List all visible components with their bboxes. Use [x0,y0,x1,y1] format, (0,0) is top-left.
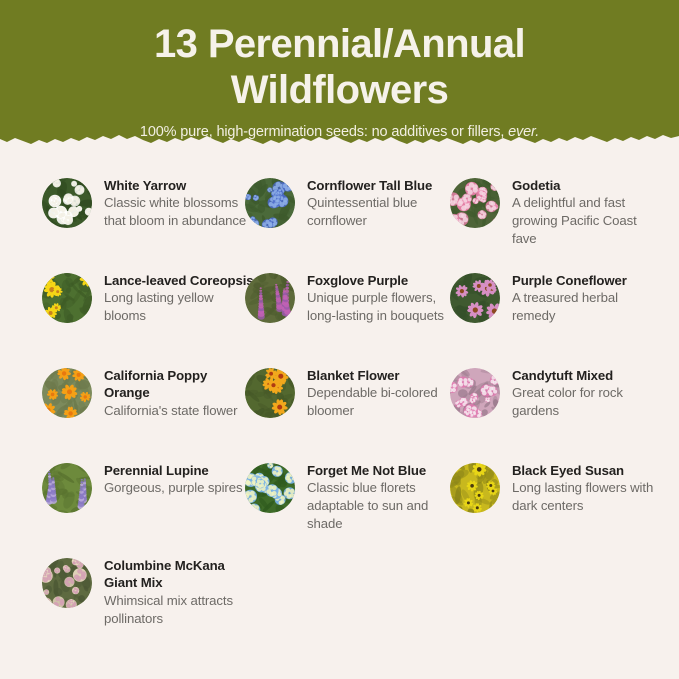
godetia-thumbnail [450,178,500,228]
flower-item[interactable]: Blanket FlowerDependable bi-colored bloo… [245,366,457,420]
header-banner: 13 Perennial/Annual Wildflowers 100% pur… [0,0,679,152]
flower-text: Cornflower Tall BlueQuintessential blue … [307,176,457,230]
flower-name: Godetia [512,177,662,194]
flower-text: White YarrowClassic white blossoms that … [104,176,254,230]
flower-text: Blanket FlowerDependable bi-colored bloo… [307,366,457,420]
white-yarrow-thumbnail [42,178,92,228]
california-poppy-orange-thumbnail [42,368,92,418]
flower-item[interactable]: California Poppy OrangeCalifornia's stat… [42,366,254,420]
flower-item[interactable]: Black Eyed SusanLong lasting flowers wit… [450,461,662,515]
flower-description: Long lasting yellow blooms [104,289,254,325]
candytuft-mixed-thumbnail [450,368,500,418]
flower-text: Black Eyed SusanLong lasting flowers wit… [512,461,662,515]
flower-name: Purple Coneflower [512,272,662,289]
flower-text: Foxglove PurpleUnique purple flowers, lo… [307,271,457,325]
flower-description: Whimsical mix attracts pollinators [104,592,254,628]
purple-coneflower-thumbnail [450,273,500,323]
flower-item[interactable]: Perennial LupineGorgeous, purple spires [42,461,254,513]
flower-description: Gorgeous, purple spires [104,479,242,497]
flower-text: Purple ConeflowerA treasured herbal reme… [512,271,662,325]
flower-name: Cornflower Tall Blue [307,177,457,194]
flower-item[interactable]: Lance-leaved CoreopsisLong lasting yello… [42,271,254,325]
flower-description: California's state flower [104,402,254,420]
page-title-line-1: 13 Perennial/Annual [154,22,525,66]
page-title-line-2: Wildflowers [70,68,610,114]
flower-grid: White YarrowClassic white blossoms that … [0,176,679,676]
flower-description: Unique purple flowers, long-lasting in b… [307,289,457,325]
flower-item[interactable]: Candytuft MixedGreat color for rock gard… [450,366,662,420]
flower-text: Candytuft MixedGreat color for rock gard… [512,366,662,420]
flower-text: Perennial LupineGorgeous, purple spires [104,461,242,497]
flower-text: Forget Me Not BlueClassic blue florets a… [307,461,457,533]
flower-item[interactable]: White YarrowClassic white blossoms that … [42,176,254,230]
flower-name: Perennial Lupine [104,462,242,479]
flower-name: White Yarrow [104,177,254,194]
flower-name: Lance-leaved Coreopsis [104,272,254,289]
flower-description: A treasured herbal remedy [512,289,662,325]
cornflower-tall-blue-thumbnail [245,178,295,228]
flower-description: Classic white blossoms that bloom in abu… [104,194,254,230]
flower-item[interactable]: Columbine McKana Giant MixWhimsical mix … [42,556,254,628]
flower-text: Columbine McKana Giant MixWhimsical mix … [104,556,254,628]
flower-description: Long lasting flowers with dark centers [512,479,662,515]
flower-item[interactable]: GodetiaA delightful and fast growing Pac… [450,176,662,248]
flower-description: Great color for rock gardens [512,384,662,420]
flower-item[interactable]: Cornflower Tall BlueQuintessential blue … [245,176,457,230]
header-banner-content: 13 Perennial/Annual Wildflowers 100% pur… [0,0,679,140]
flower-item[interactable]: Foxglove PurpleUnique purple flowers, lo… [245,271,457,325]
blanket-flower-thumbnail [245,368,295,418]
foxglove-purple-thumbnail [245,273,295,323]
flower-name: Candytuft Mixed [512,367,662,384]
flower-text: California Poppy OrangeCalifornia's stat… [104,366,254,420]
flower-name: Forget Me Not Blue [307,462,457,479]
flower-description: Classic blue florets adaptable to sun an… [307,479,457,533]
black-eyed-susan-thumbnail [450,463,500,513]
flower-text: GodetiaA delightful and fast growing Pac… [512,176,662,248]
columbine-mckana-giant-mix-thumbnail [42,558,92,608]
flower-name: California Poppy Orange [104,367,254,402]
flower-description: A delightful and fast growing Pacific Co… [512,194,662,248]
flower-name: Blanket Flower [307,367,457,384]
flower-name: Foxglove Purple [307,272,457,289]
flower-description: Dependable bi-colored bloomer [307,384,457,420]
forget-me-not-blue-thumbnail [245,463,295,513]
lance-leaved-coreopsis-thumbnail [42,273,92,323]
torn-paper-edge [0,127,679,152]
perennial-lupine-thumbnail [42,463,92,513]
flower-item[interactable]: Forget Me Not BlueClassic blue florets a… [245,461,457,533]
page-title: 13 Perennial/Annual Wildflowers [70,22,610,113]
flower-name: Columbine McKana Giant Mix [104,557,254,592]
flower-item[interactable]: Purple ConeflowerA treasured herbal reme… [450,271,662,325]
flower-name: Black Eyed Susan [512,462,662,479]
flower-text: Lance-leaved CoreopsisLong lasting yello… [104,271,254,325]
flower-description: Quintessential blue cornflower [307,194,457,230]
